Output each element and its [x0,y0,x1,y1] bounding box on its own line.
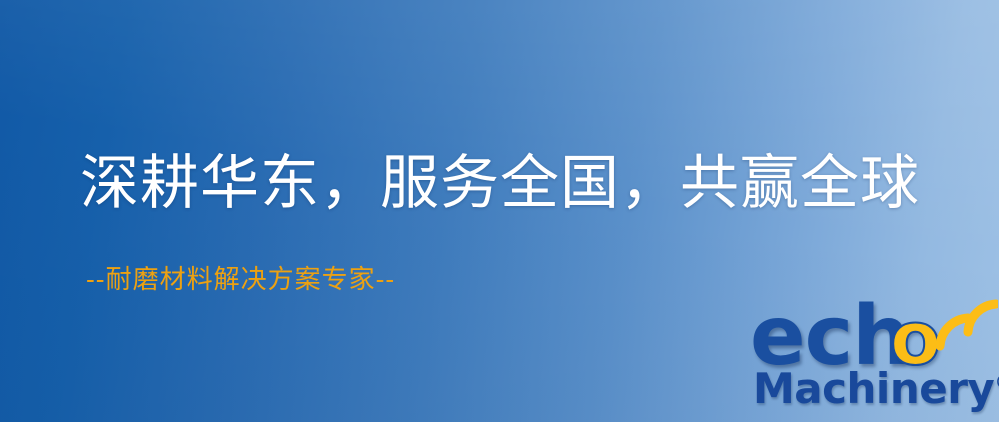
echo-machinery-logo[interactable]: ech o Machinery® [748,296,996,422]
promo-banner: 深耕华东，服务全国，共赢全球 --耐磨材料解决方案专家-- ech o Mach… [0,0,999,422]
logo-wordmark: ech o [748,296,996,374]
registered-trademark-symbol: ® [994,370,999,394]
banner-subtitle: --耐磨材料解决方案专家-- [86,266,395,295]
logo-tagline: Machinery® [753,368,999,410]
logo-tagline-text: Machinery [753,364,994,413]
banner-headline: 深耕华东，服务全国，共赢全球 [80,152,920,214]
signal-wave-arcs-icon [930,294,998,356]
